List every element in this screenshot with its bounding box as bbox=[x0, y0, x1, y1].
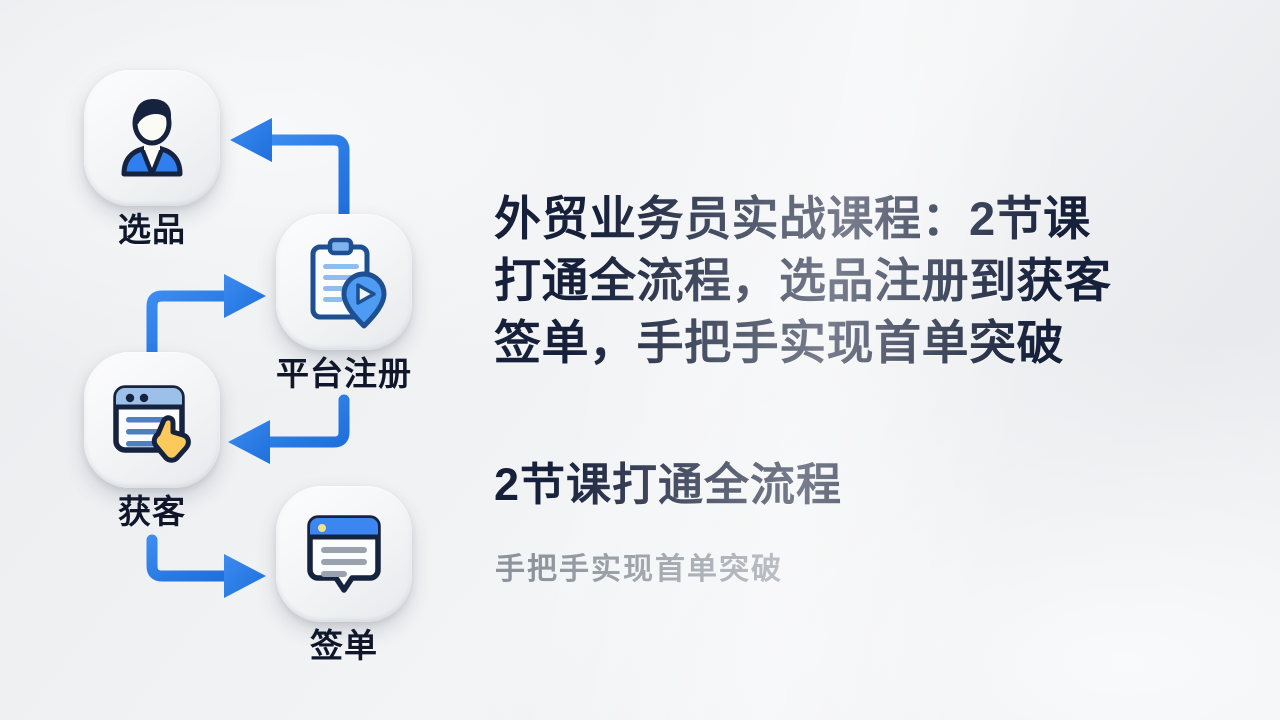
icon-tile bbox=[84, 352, 220, 488]
clipboard-location-icon bbox=[296, 234, 392, 330]
subheadline: 2节课打通全流程 bbox=[494, 460, 842, 510]
connector-acquire-to-sign bbox=[152, 540, 266, 598]
businessman-icon bbox=[104, 90, 200, 186]
icon-tile bbox=[276, 214, 412, 350]
flow-node-select-product[interactable]: 选品 bbox=[84, 70, 220, 248]
flow-node-customer-acquisition[interactable]: 获客 bbox=[84, 352, 220, 530]
flow-node-label: 签单 bbox=[276, 628, 412, 664]
headline-line-2: 打通全流程，选品注册到获客 bbox=[494, 250, 1246, 312]
flow-node-platform-registration[interactable]: 平台注册 bbox=[276, 214, 412, 392]
headline-line-1: 外贸业务员实战课程：2节课 bbox=[494, 188, 1246, 250]
course-poster: 选品 bbox=[0, 0, 1280, 720]
headline: 外贸业务员实战课程：2节课 打通全流程，选品注册到获客 签单，手把手实现首单突破 bbox=[494, 188, 1246, 374]
copy-block: 外贸业务员实战课程：2节课 打通全流程，选品注册到获客 签单，手把手实现首单突破… bbox=[494, 0, 1254, 720]
flow-node-label: 选品 bbox=[84, 212, 220, 248]
speech-document-icon bbox=[296, 506, 392, 602]
connector-register-to-select bbox=[230, 118, 344, 214]
connector-register-to-acquire bbox=[228, 400, 344, 464]
icon-tile bbox=[276, 486, 412, 622]
tagline: 手把手实现首单突破 bbox=[495, 552, 783, 588]
flow-node-label: 平台注册 bbox=[236, 356, 452, 392]
connector-select-to-register bbox=[152, 274, 266, 352]
browser-cursor-icon bbox=[104, 372, 200, 468]
headline-line-3: 签单，手把手实现首单突破 bbox=[494, 312, 1246, 374]
icon-tile bbox=[84, 70, 220, 206]
workflow-diagram: 选品 bbox=[0, 0, 470, 720]
flow-node-sign-order[interactable]: 签单 bbox=[276, 486, 412, 664]
flow-node-label: 获客 bbox=[84, 494, 220, 530]
